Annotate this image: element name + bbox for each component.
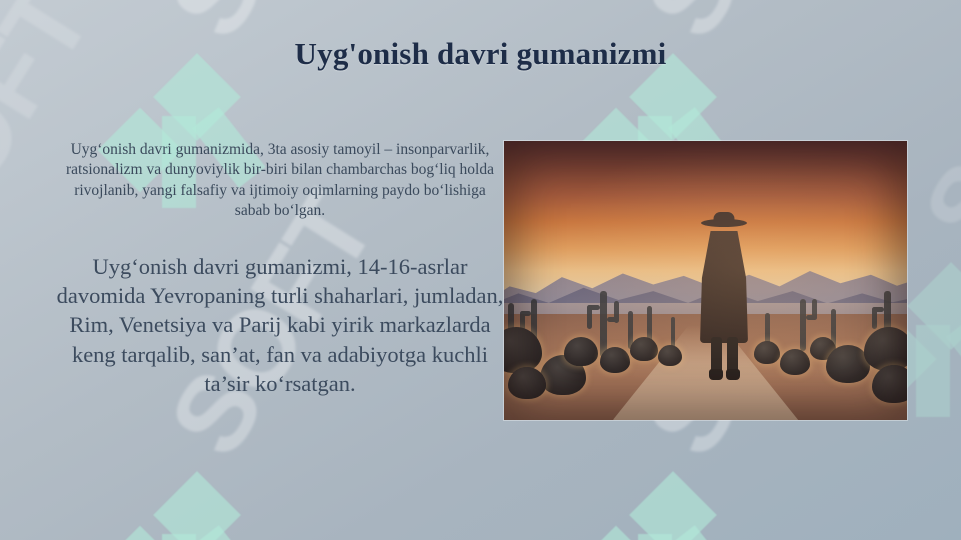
slide-title: Uyg'onish davri gumanizmi	[0, 36, 961, 72]
intro-paragraph: Uyg‘onish davri gumanizmida, 3ta asosiy …	[58, 140, 502, 222]
image-vignette	[504, 141, 907, 420]
presentation-slide: SOFT SOFT SOFT SOFT SOFT	[0, 0, 961, 540]
slide-image-frame	[504, 141, 907, 420]
watermark-tile: SOFT	[104, 404, 434, 540]
cowboy-desert-sunset-image	[504, 141, 907, 420]
body-paragraph: Uyg‘onish davri gumanizmi, 14-16-asrlar …	[50, 252, 510, 398]
k-chevron-logo-icon	[110, 482, 260, 540]
text-column: Uyg‘onish davri gumanizmida, 3ta asosiy …	[50, 140, 510, 398]
k-chevron-logo-icon	[586, 482, 736, 540]
watermark-tile: SOFT	[580, 404, 910, 540]
